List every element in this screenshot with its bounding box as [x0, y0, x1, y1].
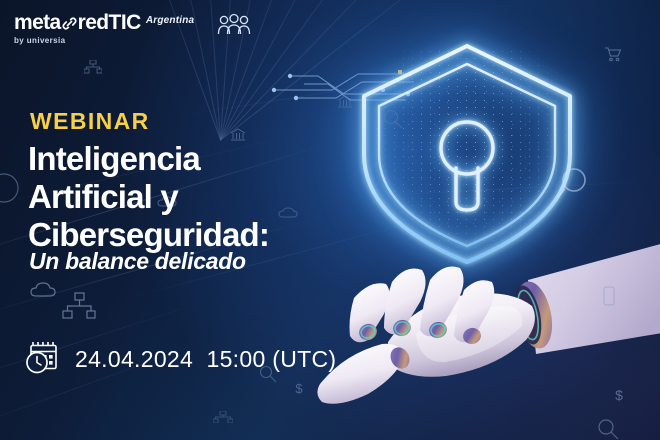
- shield-graphic: [352, 34, 582, 274]
- network-nodes-icon: [84, 60, 102, 74]
- page-title: Inteligencia Artificial y Ciberseguridad…: [28, 140, 269, 254]
- logo-tic-text: TIC: [109, 12, 141, 33]
- brand-logo[interactable]: meta red TIC Argentina by universia: [14, 12, 251, 45]
- smartphone-icon: [603, 286, 615, 306]
- network-nodes-icon: [213, 411, 233, 423]
- magnifying-glass-icon: [597, 418, 619, 440]
- dollar-sign-icon: $: [612, 385, 626, 405]
- magnifying-glass-icon: [382, 108, 404, 130]
- logo-red-text: red: [78, 12, 109, 33]
- shield-data-speckle: [372, 48, 568, 263]
- link-icon: [62, 14, 77, 29]
- svg-text:$: $: [615, 387, 623, 403]
- circuit-traces-graphic: [258, 48, 448, 153]
- logo-country-label: Argentina: [146, 16, 194, 26]
- background-radiating-lines: [220, 140, 660, 440]
- logo-meta-text: meta: [14, 12, 61, 33]
- webinar-banner: $ $ meta: [0, 0, 660, 440]
- event-datetime-text: 24.04.2024 15:00 (UTC): [75, 346, 336, 373]
- title-line-1: Inteligencia: [28, 140, 269, 178]
- logo-byline: by universia: [14, 36, 194, 45]
- page-subtitle: Un balance delicado: [29, 250, 246, 273]
- shopping-cart-icon: [604, 46, 622, 62]
- calendar-clock-icon: [24, 338, 62, 381]
- svg-text:$: $: [295, 381, 303, 396]
- magnifying-glass-icon: [552, 164, 594, 206]
- people-group-icon: [217, 13, 251, 42]
- event-datetime-row: 24.04.2024 15:00 (UTC): [24, 338, 336, 381]
- eyebrow-label: WEBINAR: [30, 110, 150, 133]
- network-nodes-icon: [62, 292, 96, 320]
- logo-wordmark: meta red TIC Argentina: [14, 12, 194, 33]
- dollar-sign-icon: $: [292, 378, 306, 398]
- cloud-icon: [278, 207, 298, 219]
- circle-decoration: [0, 168, 26, 208]
- cloud-icon: [30, 282, 56, 300]
- title-line-2: Artificial y: [28, 178, 269, 216]
- spacer: [600, 278, 601, 279]
- robotic-hand-graphic: [296, 236, 660, 426]
- bank-icon: [337, 95, 353, 109]
